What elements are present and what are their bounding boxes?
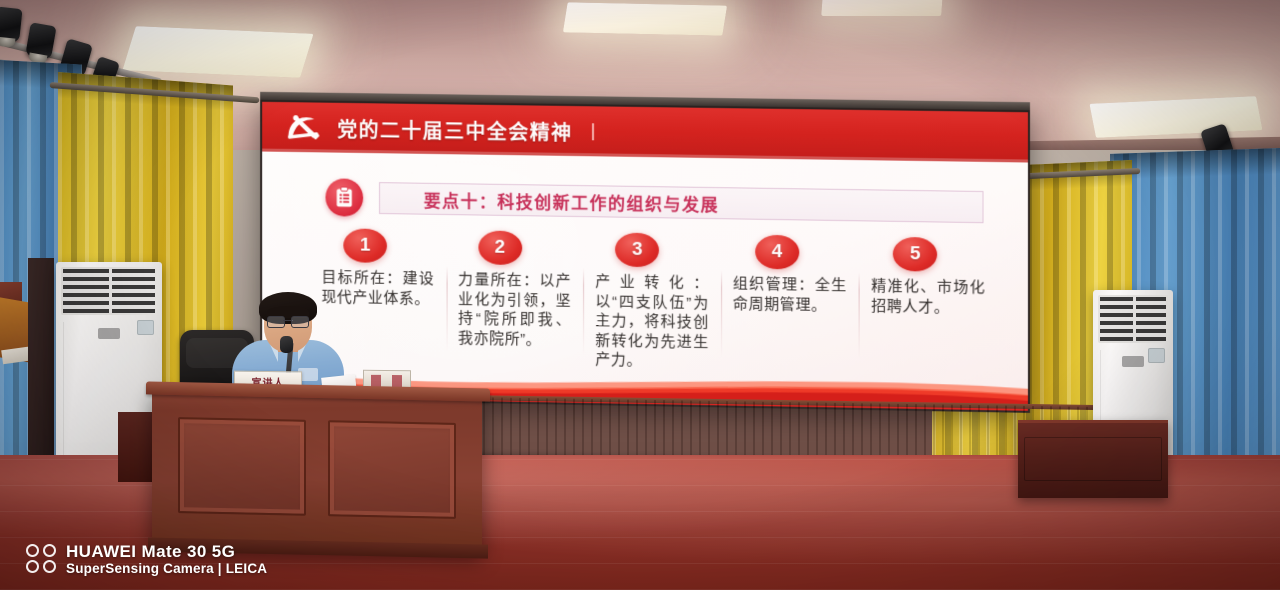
slide-point-4: 4 组织管理：全生命周期管理。 [721, 234, 859, 374]
dual-lens-icon [26, 544, 56, 573]
point-number-badge: 2 [478, 230, 522, 265]
ac-seam [63, 322, 64, 466]
slide-subtitle-text: 要点十：科技创新工作的组织与发展 [424, 186, 719, 215]
podium-desk [152, 391, 482, 553]
hammer-and-sickle-emblem-icon [284, 113, 324, 141]
podium-panel [328, 420, 456, 519]
slide-subtitle-box: 要点十：科技创新工作的组织与发展 [379, 182, 984, 223]
ac-logo [1122, 356, 1144, 367]
glasses-icon [267, 316, 309, 326]
ac-control-panel[interactable] [1148, 348, 1165, 363]
podium-panel [178, 417, 306, 516]
watermark-text: HUAWEI Mate 30 5G SuperSensing Camera | … [66, 542, 267, 576]
point-number-badge: 1 [343, 228, 387, 263]
camera-watermark: HUAWEI Mate 30 5G SuperSensing Camera | … [26, 542, 267, 576]
watermark-line-2: SuperSensing Camera | LEICA [66, 561, 267, 576]
slide-header-divider: | [591, 120, 596, 142]
ac-control-panel[interactable] [137, 320, 154, 335]
microphone-icon [280, 336, 293, 353]
ac-grille [1098, 295, 1168, 343]
slide-point-2: 2 力量所在：以产业化为引领，坚持“院所即我、我亦院所”。 [446, 230, 583, 369]
point-text: 产业转化：以“四支队伍”为主力，将科技创新转化为先进生产力。 [595, 272, 709, 371]
slide-point-columns: 1 目标所在：建设现代产业体系。 2 力量所在：以产业化为引领，坚持“院所即我、… [310, 228, 998, 376]
ceiling-light-panel [563, 2, 727, 35]
point-number-badge: 4 [755, 235, 799, 270]
slide-header-title: 党的二十届三中全会精神 [337, 113, 572, 145]
point-number-badge: 5 [893, 237, 937, 272]
stage-platform-right [1018, 420, 1168, 498]
point-text: 组织管理：全生命周期管理。 [733, 274, 847, 315]
led-screen[interactable]: 党的二十届三中全会精神 | [260, 99, 1030, 413]
slide-subtitle-row: 要点十：科技创新工作的组织与发展 [325, 178, 983, 226]
screen-surface: 党的二十届三中全会精神 | [262, 102, 1028, 411]
point-text: 力量所在：以产业化为引领，坚持“院所即我、我亦院所”。 [458, 270, 571, 350]
slide-point-3: 3 产业转化：以“四支队伍”为主力，将科技创新转化为先进生产力。 [583, 232, 721, 371]
ceiling-light-panel [821, 0, 943, 16]
watermark-line-1: HUAWEI Mate 30 5G [66, 542, 267, 561]
ac-grille [61, 267, 157, 315]
point-number-badge: 3 [615, 233, 659, 268]
wall-post [28, 258, 54, 488]
slide-point-5: 5 精准化、市场化招聘人才。 [859, 236, 998, 376]
ac-logo [98, 328, 120, 339]
photo-scene: 党的二十届三中全会精神 | [0, 0, 1280, 590]
spotlight-icon [0, 7, 23, 44]
clipboard-icon [325, 178, 363, 216]
point-text: 精准化、市场化招聘人才。 [871, 277, 985, 318]
